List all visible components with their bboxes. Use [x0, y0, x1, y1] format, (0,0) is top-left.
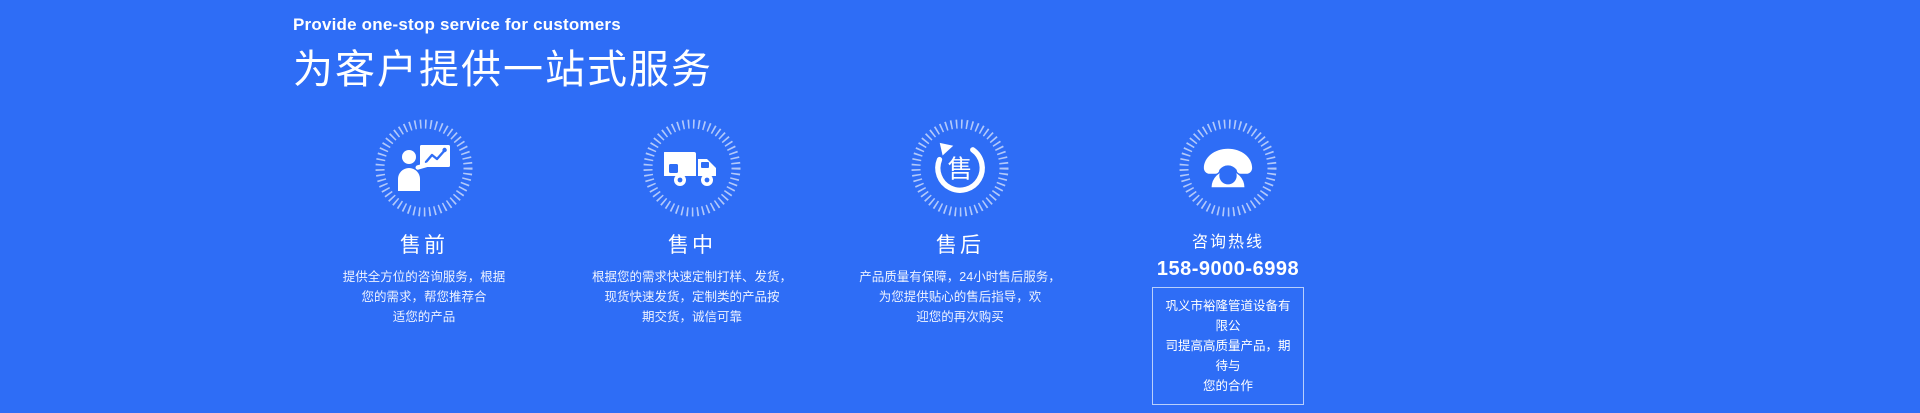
company-info-line: 司提高高质量产品，期待与 — [1163, 336, 1293, 376]
description-line: 为您提供贴心的售后指导，欢 — [859, 287, 1060, 307]
service-card-description: 提供全方位的咨询服务，根据 您的需求，帮您推荐合 适您的产品 — [343, 267, 506, 327]
description-line: 根据您的需求快速定制打样、发货， — [592, 267, 792, 287]
heading-block: Provide one-stop service for customers 为… — [293, 14, 713, 95]
telephone-icon — [1200, 140, 1256, 196]
company-info-line: 巩义市裕隆管道设备有限公 — [1163, 296, 1293, 336]
service-card-title: 售中 — [668, 232, 716, 260]
hotline-label: 咨询热线 — [1192, 232, 1264, 254]
description-line: 适您的产品 — [343, 307, 506, 327]
service-card-list: 售前 提供全方位的咨询服务，根据 您的需求，帮您推荐合 适您的产品 — [290, 118, 1580, 405]
service-card-description: 产品质量有保障，24小时售后服务， 为您提供贴心的售后指导，欢 迎您的再次购买 — [859, 267, 1060, 327]
hotline-number[interactable]: 158-9000-6998 — [1157, 256, 1299, 282]
description-line: 现货快速发货，定制类的产品按 — [592, 287, 792, 307]
service-card-title: 售后 — [936, 232, 984, 260]
company-info-box: 巩义市裕隆管道设备有限公 司提高高质量产品，期待与 您的合作 — [1152, 287, 1304, 405]
hotline-card[interactable]: 咨询热线 158-9000-6998 巩义市裕隆管道设备有限公 司提高高质量产品… — [1094, 118, 1362, 405]
service-card-aftersale[interactable]: 售 售后 产品质量有保障，24小时售后服务， 为您提供贴心的售后指导，欢 迎您的… — [826, 118, 1094, 405]
service-card-description: 根据您的需求快速定制打样、发货， 现货快速发货，定制类的产品按 期交货，诚信可靠 — [592, 267, 792, 327]
banner-title: 为客户提供一站式服务 — [293, 45, 713, 95]
icon-ring-wrapper — [1178, 118, 1278, 218]
description-line: 提供全方位的咨询服务，根据 — [343, 267, 506, 287]
icon-ring-wrapper — [642, 118, 742, 218]
description-line: 期交货，诚信可靠 — [592, 307, 792, 327]
icon-ring-wrapper: 售 — [910, 118, 1010, 218]
promo-banner: Provide one-stop service for customers 为… — [0, 0, 1920, 413]
service-card-title: 售前 — [400, 232, 448, 260]
banner-eyebrow: Provide one-stop service for customers — [293, 14, 713, 36]
icon-ring-wrapper — [374, 118, 474, 218]
presenter-whiteboard-icon — [396, 140, 452, 196]
description-line: 迎您的再次购买 — [859, 307, 1060, 327]
delivery-truck-icon — [664, 140, 720, 196]
service-card-presale[interactable]: 售前 提供全方位的咨询服务，根据 您的需求，帮您推荐合 适您的产品 — [290, 118, 558, 405]
company-info-line: 您的合作 — [1163, 376, 1293, 396]
description-line: 产品质量有保障，24小时售后服务， — [859, 267, 1060, 287]
description-line: 您的需求，帮您推荐合 — [343, 287, 506, 307]
svg-text:售: 售 — [947, 155, 972, 184]
service-card-insale[interactable]: 售中 根据您的需求快速定制打样、发货， 现货快速发货，定制类的产品按 期交货，诚… — [558, 118, 826, 405]
after-sales-refresh-icon: 售 — [932, 140, 988, 196]
